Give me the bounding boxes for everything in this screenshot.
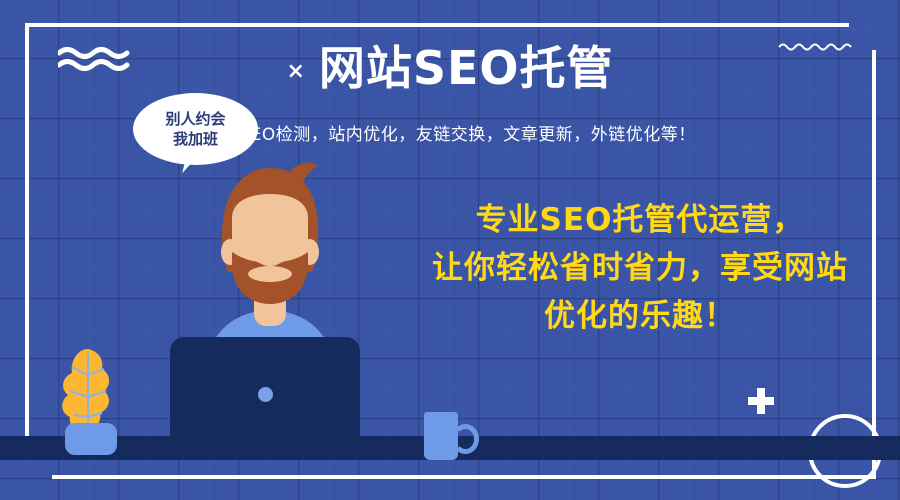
title-bullet-mark: × bbox=[286, 61, 304, 83]
plus-mark-icon bbox=[748, 388, 774, 414]
pitch-line-3: 优化的乐趣！ bbox=[390, 292, 890, 340]
plant-pot bbox=[65, 423, 117, 455]
mug-body bbox=[424, 412, 458, 460]
plant-illustration bbox=[58, 345, 118, 455]
pitch-text-block: 专业SEO托管代运营， 让你轻松省时省力，享受网站 优化的乐趣！ bbox=[390, 196, 890, 340]
pitch-line-2: 让你轻松省时省力，享受网站 bbox=[390, 244, 890, 292]
page-title-row: × 网站SEO托管 bbox=[0, 44, 900, 92]
page-title: 网站SEO托管 bbox=[319, 44, 614, 92]
speech-bubble: 别人约会 我加班 bbox=[133, 93, 258, 165]
laptop bbox=[170, 337, 360, 447]
laptop-logo-dot-icon bbox=[258, 387, 273, 402]
speech-bubble-line-2: 我加班 bbox=[173, 129, 218, 149]
speech-bubble-line-1: 别人约会 bbox=[165, 109, 225, 129]
coffee-mug bbox=[424, 412, 469, 460]
seo-hosting-banner: × 网站SEO托管 含：SEO检测，站内优化，友链交换，文章更新，外链优化等！ … bbox=[0, 0, 900, 500]
pitch-line-1: 专业SEO托管代运营， bbox=[390, 196, 890, 244]
mouth bbox=[248, 266, 292, 282]
